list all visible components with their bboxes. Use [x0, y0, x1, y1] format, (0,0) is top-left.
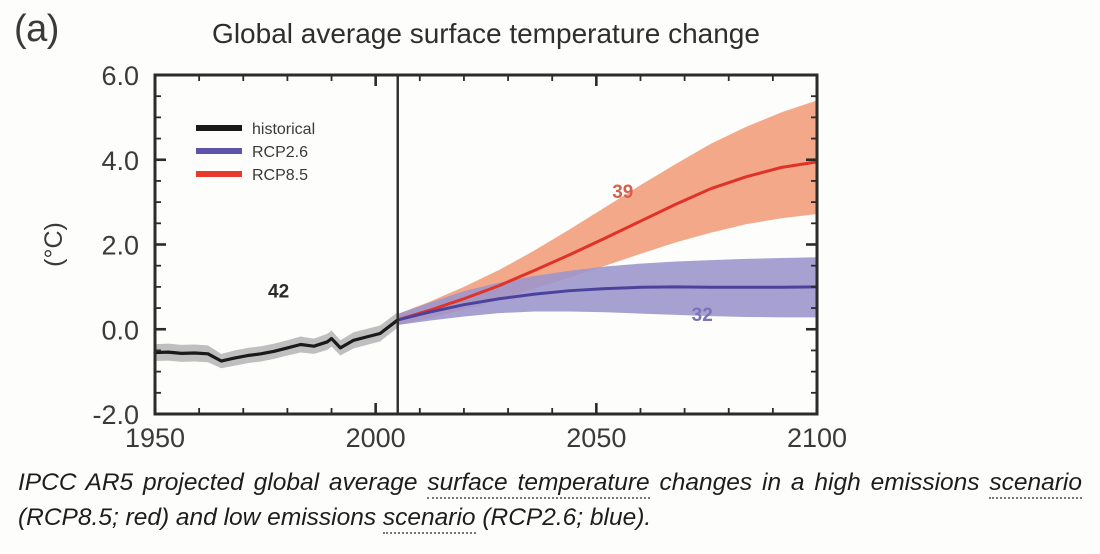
annotation-historical: 42 — [268, 281, 289, 302]
x-tick-label: 2100 — [787, 423, 847, 453]
chart-legend: historicalRCP2.6RCP8.5 — [196, 121, 315, 184]
x-tick-label: 2050 — [566, 423, 626, 453]
uncertainty-band-historical — [155, 312, 398, 368]
x-tick-label: 2000 — [346, 423, 406, 453]
y-axis-title-layer: (°C) — [40, 222, 68, 267]
annotation-RCP2.6: 32 — [692, 305, 713, 326]
legend-label-RCP8.5: RCP8.5 — [252, 167, 308, 184]
y-tick-label: 2.0 — [101, 231, 139, 261]
y-tick-label: 4.0 — [101, 146, 139, 176]
caption-spellcheck-3: scenario — [383, 504, 476, 534]
figure-caption: IPCC AR5 projected global average surfac… — [18, 466, 1082, 536]
annotation-RCP8.5: 39 — [612, 182, 633, 203]
caption-segment-2: changes in a high emissions — [650, 469, 990, 496]
y-tick-label: -2.0 — [92, 400, 139, 430]
axis-tick-labels-layer: 1950200020502100-2.00.02.04.06.0 — [92, 61, 847, 453]
y-axis-title: (°C) — [40, 222, 68, 267]
y-tick-label: 6.0 — [101, 61, 139, 91]
temperature-chart-plot: 1950200020502100-2.00.02.04.06.0 (°C) hi… — [0, 0, 1100, 460]
caption-spellcheck-1: surface temperature — [427, 469, 649, 499]
caption-segment-3: (RCP8.5; red) and low emissions — [18, 504, 383, 531]
y-tick-label: 0.0 — [101, 315, 139, 345]
legend-label-RCP2.6: RCP2.6 — [252, 144, 308, 161]
caption-spellcheck-2: scenario — [989, 469, 1082, 499]
figure-container: (a) Global average surface temperature c… — [0, 0, 1100, 554]
caption-segment-1: IPCC AR5 projected global average — [18, 469, 427, 496]
legend-label-historical: historical — [252, 121, 315, 138]
uncertainty-bands-layer — [155, 100, 817, 368]
caption-segment-4: (RCP2.6; blue). — [476, 504, 652, 531]
